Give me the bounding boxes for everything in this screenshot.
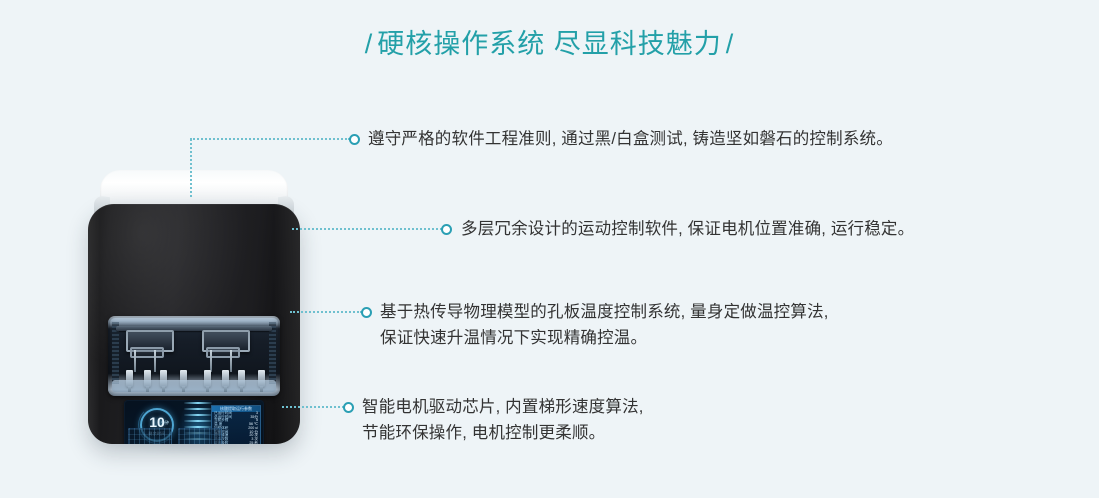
feature-text-motion-control: 多层冗余设计的运动控制软件, 保证电机位置准确, 运行稳定。 [461, 216, 914, 242]
device-mechanism-window [108, 316, 280, 396]
pipette-rod [154, 350, 156, 372]
pipette-rod [210, 350, 212, 372]
window-floor [112, 380, 276, 392]
pipette-rod [230, 350, 232, 372]
device-body-left-highlight [88, 204, 100, 444]
connector-vertical-1 [190, 139, 192, 197]
timer-unit: 分钟 [161, 420, 169, 426]
connector-dot-2 [441, 224, 452, 235]
connector-dot-3 [361, 307, 372, 318]
connector-dot-4 [343, 402, 354, 413]
device-body: 10 分钟 剩余时间 核酸提取运行参数 已运行时间3 总运行时间35分 当前步骤… [88, 204, 300, 444]
device-illustration: 10 分钟 剩余时间 核酸提取运行参数 已运行时间3 总运行时间35分 当前步骤… [88, 170, 300, 453]
page-title: /硬核操作系统 尽显科技魅力/ [0, 22, 1099, 61]
sample-graph-left: 样本 A [128, 428, 172, 444]
title-slash-left: / [361, 29, 378, 59]
connector-line-4 [282, 401, 354, 413]
connector-line-3 [290, 306, 372, 318]
connector-line-2 [292, 223, 452, 235]
connector-horizontal-4 [282, 406, 344, 408]
feature-text-temperature-control: 基于热传导物理模型的孔板温度控制系统, 量身定做温控算法, 保证快速升温情况下实… [380, 299, 829, 351]
window-left-strip [112, 322, 119, 384]
connector-horizontal-1 [190, 138, 350, 140]
connector-horizontal-3 [290, 311, 362, 313]
connector-dot-1 [349, 134, 360, 145]
connector-horizontal-2 [292, 228, 442, 230]
window-right-strip [269, 322, 276, 384]
title-slash-right: / [722, 29, 739, 59]
connector-line-1 [190, 133, 360, 145]
feature-text-software-engineering: 遵守严格的软件工程准则, 通过黑/白盒测试, 铸造坚如磐石的控制系统。 [368, 126, 893, 152]
sample-graph-right: 样本 B [178, 428, 222, 444]
title-text: 硬核操作系统 尽显科技魅力 [377, 29, 722, 59]
feature-text-motor-driver-chip: 智能电机驱动芯片, 内置梯形速度算法, 节能环保操作, 电机控制更柔顺。 [362, 394, 644, 446]
device-touchscreen[interactable]: 10 分钟 剩余时间 核酸提取运行参数 已运行时间3 总运行时间35分 当前步骤… [124, 400, 264, 444]
pipette-rod [134, 350, 136, 372]
